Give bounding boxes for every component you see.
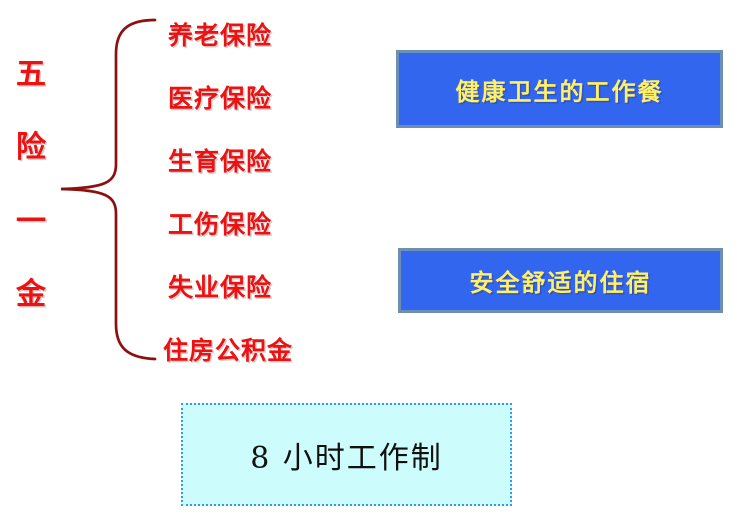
list-item: 养老保险: [168, 16, 272, 52]
list-item: 医疗保险: [168, 79, 272, 115]
curly-brace: [50, 18, 170, 362]
list-item: 失业保险: [168, 268, 272, 304]
heading-char-2: 险: [16, 133, 46, 163]
work-hours-box: 8 小时工作制: [181, 403, 512, 506]
slide-canvas: 五 险 一 金 养老保险 医疗保险 生育保险 工伤保险 失业保险 住房公积金 健…: [0, 0, 738, 522]
list-item: 生育保险: [168, 142, 272, 178]
insurance-item-list: 养老保险 医疗保险 生育保险 工伤保险 失业保险 住房公积金: [163, 12, 363, 364]
heading-char-1: 五: [16, 60, 46, 90]
list-item: 工伤保险: [168, 205, 272, 241]
work-hours-label: 8 小时工作制: [250, 433, 443, 477]
benefit-box-healthy-meals: 健康卫生的工作餐: [396, 50, 723, 128]
list-item: 住房公积金: [163, 331, 293, 367]
benefit-box-safe-housing: 安全舒适的住宿: [398, 248, 723, 313]
curly-brace-icon: [50, 18, 170, 362]
benefit-box-label: 健康卫生的工作餐: [456, 72, 664, 107]
heading-char-4: 金: [16, 280, 46, 310]
five-insurances-one-fund-heading: 五 险 一 金: [8, 60, 54, 310]
benefit-box-label: 安全舒适的住宿: [470, 263, 652, 298]
heading-char-3: 一: [16, 207, 46, 237]
